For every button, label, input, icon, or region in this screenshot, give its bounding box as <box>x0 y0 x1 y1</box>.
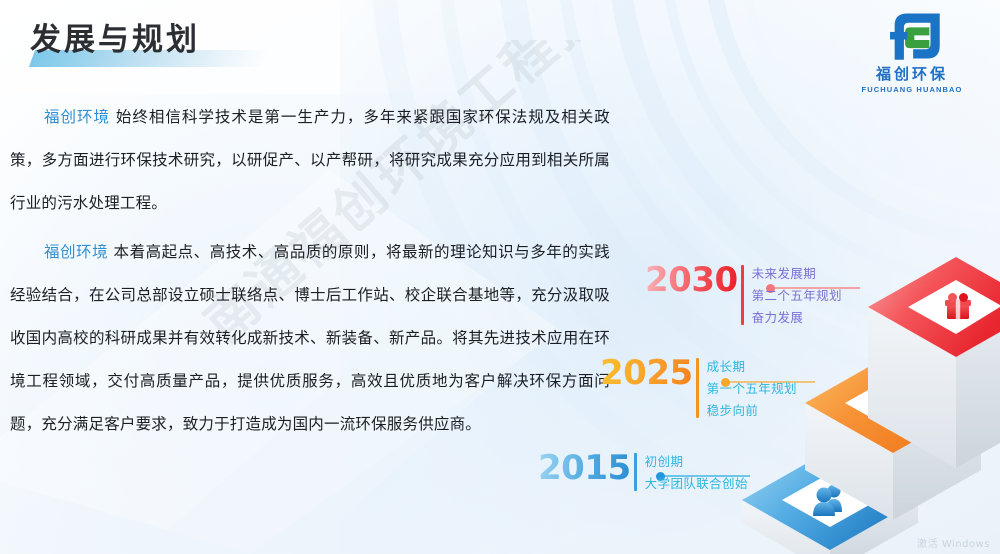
milestone-2015-lines: 初创期 大学团队联合创始 <box>645 451 748 495</box>
milestone-2015-year: 2015 <box>538 451 631 485</box>
page-title: 发展与规划 <box>30 14 200 59</box>
milestone-2015-line-1: 初创期 <box>645 451 748 473</box>
logo-pinyin: FUCHUANG HUANBAO <box>850 85 974 94</box>
milestone-2015-separator <box>634 453 637 491</box>
milestone-2025-line-1: 成长期 <box>707 356 797 378</box>
milestone-2030-lines: 未来发展期 第二个五年规划 奋力发展 <box>752 263 842 329</box>
timeline-graphic: 2030 未来发展期 第二个五年规划 奋力发展 2025 成长期 第一个五年规划… <box>520 255 1000 554</box>
milestone-2030-separator <box>741 265 744 325</box>
logo-chinese-name: 福创环保 <box>850 63 974 84</box>
title-text: 发展与规划 <box>30 14 200 59</box>
brand-name-2: 福创环境 <box>44 243 108 261</box>
milestone-2030-line-2: 第二个五年规划 <box>752 285 842 307</box>
milestone-2025-year: 2025 <box>600 356 693 390</box>
windows-activation-note: 激活 Windows <box>917 535 990 550</box>
company-logo: 福创环保 FUCHUANG HUANBAO <box>850 10 974 94</box>
logo-mark-icon <box>876 10 948 62</box>
milestone-2030: 2030 未来发展期 第二个五年规划 奋力发展 <box>645 263 842 329</box>
milestone-2025-line-3: 稳步向前 <box>707 400 797 422</box>
milestone-2015: 2015 初创期 大学团队联合创始 <box>538 451 748 495</box>
milestone-2015-line-2: 大学团队联合创始 <box>645 473 748 495</box>
milestone-2025-lines: 成长期 第一个五年规划 稳步向前 <box>707 356 797 422</box>
paragraph-1: 福创环境 始终相信科学技术是第一生产力，多年来紧跟国家环保法规及相关政策，多方面… <box>10 96 610 225</box>
milestone-2025-separator <box>696 358 699 418</box>
milestone-2030-year: 2030 <box>645 263 738 297</box>
milestone-2030-line-3: 奋力发展 <box>752 307 842 329</box>
brand-name-1: 福创环境 <box>44 108 110 126</box>
milestone-2025-line-2: 第一个五年规划 <box>707 378 797 400</box>
milestone-2030-line-1: 未来发展期 <box>752 263 842 285</box>
slide-root: 南通福创环境工程技术有限公司 发展与规划 福创环保 FUCHUANG HUANB… <box>0 0 1000 554</box>
milestone-2025: 2025 成长期 第一个五年规划 稳步向前 <box>600 356 797 422</box>
